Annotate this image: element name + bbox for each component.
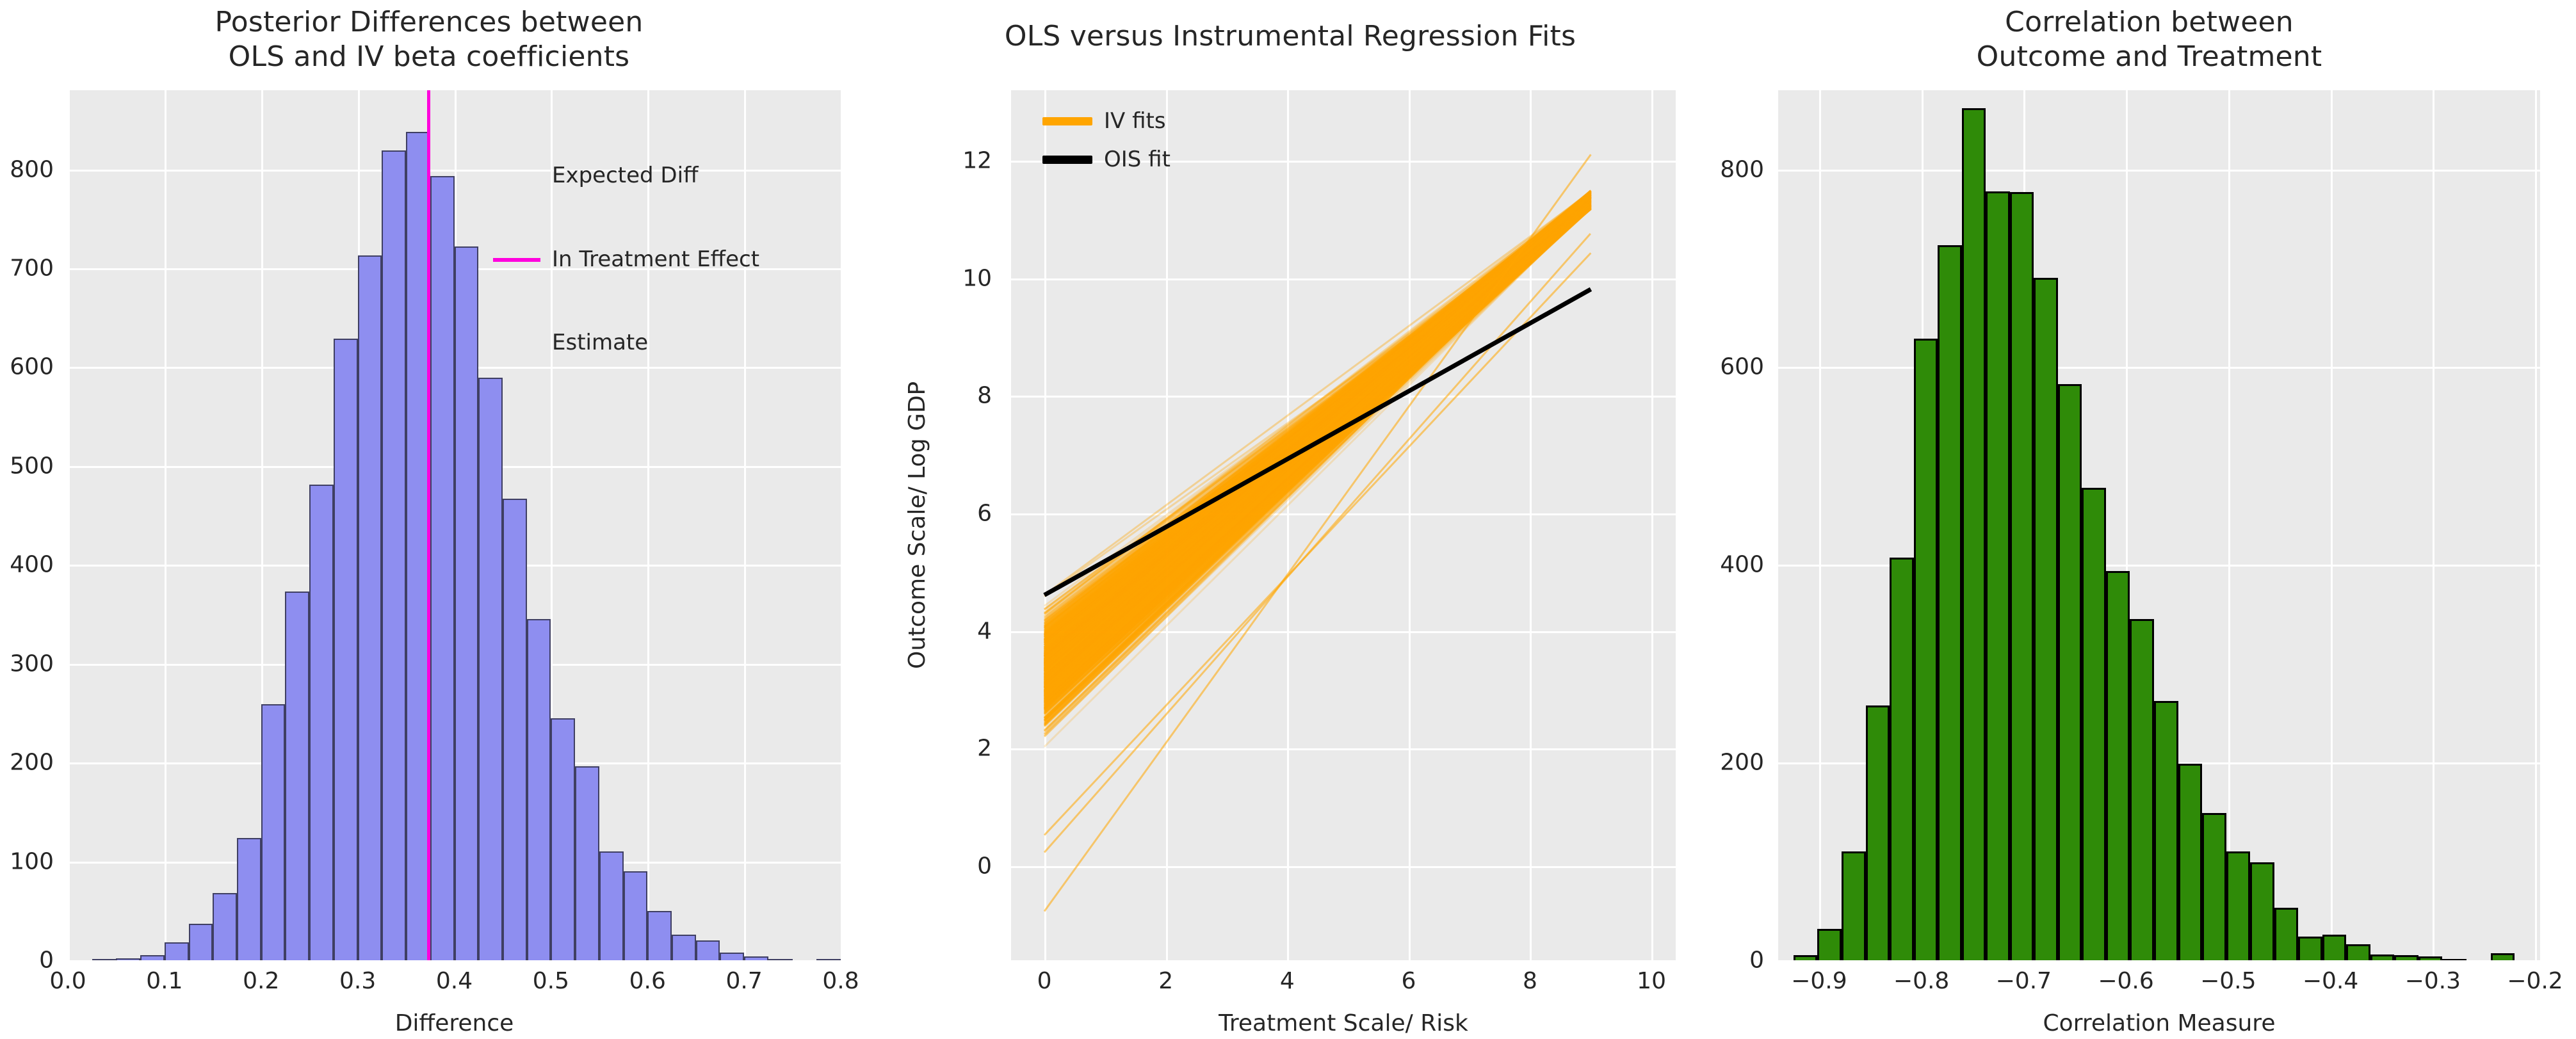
panel1-x-tick: 0.3 <box>339 968 376 994</box>
histogram-bar <box>816 959 841 960</box>
panel1-x-tick: 0.7 <box>725 968 762 994</box>
panel1-title-line1: Posterior Differences between <box>0 5 858 40</box>
histogram-bar <box>2370 954 2395 960</box>
iv-fit-line <box>1044 194 1591 623</box>
panel-ols-vs-iv-fits: OLS versus Instrumental Regression Fits … <box>858 0 1722 1039</box>
panel2-x-tick: 2 <box>1158 968 1173 994</box>
iv-fit-line <box>1044 200 1591 699</box>
gridline-vertical <box>2228 90 2230 960</box>
histogram-bar <box>503 499 527 960</box>
panel1-y-tick: 800 <box>10 156 54 182</box>
panel3-x-tick: −0.7 <box>1996 968 2052 994</box>
panel1-y-tick: 600 <box>10 354 54 380</box>
panel3-x-tick: −0.2 <box>2507 968 2563 994</box>
panel3-x-tick: −0.9 <box>1791 968 1847 994</box>
panel2-legend-iv-label: IV fits <box>1104 108 1166 136</box>
histogram-bar <box>2274 908 2299 960</box>
gridline-horizontal <box>1778 170 2540 172</box>
gridline-vertical <box>1287 90 1289 960</box>
gridline-vertical <box>68 90 70 960</box>
histogram-bar <box>213 893 237 960</box>
gridline-vertical <box>1651 90 1653 960</box>
gridline-horizontal <box>1011 278 1676 280</box>
panel-correlation-outcome-treatment: Correlation between Outcome and Treatmen… <box>1722 0 2576 1039</box>
panel2-x-tick: 10 <box>1637 968 1666 994</box>
panel1-x-axis-label: Difference <box>68 1010 841 1036</box>
panel1-y-tick: 200 <box>10 750 54 776</box>
panel3-x-axis-label: Correlation Measure <box>1778 1010 2540 1036</box>
gridline-vertical <box>165 90 166 960</box>
histogram-bar <box>334 339 358 960</box>
histogram-bar <box>2491 953 2515 960</box>
histogram-bar <box>237 838 261 961</box>
panel1-title-line2: OLS and IV beta coefficients <box>0 40 858 74</box>
panel1-y-tick: 700 <box>10 255 54 281</box>
histogram-bar <box>2106 571 2130 960</box>
histogram-bar <box>2298 937 2322 960</box>
histogram-bar <box>2154 701 2178 960</box>
panel2-y-tick: 2 <box>977 736 992 762</box>
histogram-bar <box>2442 959 2467 960</box>
panel1-x-tick: 0.6 <box>629 968 666 994</box>
expected-diff-legend-swatch <box>493 258 540 262</box>
panel2-y-tick: 10 <box>962 265 992 291</box>
histogram-bar <box>455 246 479 960</box>
histogram-bar <box>2418 956 2443 960</box>
panel1-legend-line3: Estimate <box>552 329 759 357</box>
iv-fit-line <box>1044 204 1591 747</box>
panel2-x-tick: 6 <box>1401 968 1416 994</box>
histogram-bar <box>696 940 720 960</box>
histogram-bar <box>140 955 165 960</box>
histogram-bar <box>92 959 117 960</box>
histogram-bar <box>1914 339 1938 960</box>
panel-posterior-differences: Posterior Differences between OLS and IV… <box>0 0 858 1039</box>
panel2-y-tick: 6 <box>977 501 992 527</box>
panel1-legend[interactable]: Expected Diff In Treatment Effect Estima… <box>493 106 759 413</box>
panel1-x-tick: 0.5 <box>533 968 569 994</box>
panel2-title-line1: OLS versus Instrumental Regression Fits <box>858 19 1722 54</box>
expected-diff-vline <box>427 90 430 960</box>
panel3-x-tick: −0.4 <box>2303 968 2358 994</box>
histogram-bar <box>2178 764 2203 960</box>
panel3-y-tick: 600 <box>1720 354 1764 380</box>
histogram-bar <box>2010 192 2034 960</box>
histogram-bar <box>382 150 406 960</box>
panel3-title-line2: Outcome and Treatment <box>1722 40 2576 74</box>
panel1-legend-line1: Expected Diff <box>552 162 759 190</box>
histogram-bar <box>2250 862 2274 960</box>
gridline-horizontal <box>1778 367 2540 369</box>
panel2-legend-ols-label: OIS fit <box>1104 146 1171 174</box>
histogram-bar <box>189 924 213 960</box>
histogram-bar <box>165 942 189 960</box>
gridline-vertical <box>1819 90 1821 960</box>
multi-panel-figure: Posterior Differences between OLS and IV… <box>0 0 2576 1039</box>
histogram-bar <box>2346 944 2370 960</box>
histogram-bar <box>2058 384 2082 960</box>
histogram-bar <box>2034 278 2058 960</box>
panel3-x-tick: −0.8 <box>1893 968 1949 994</box>
gridline-vertical <box>2433 90 2434 960</box>
panel2-y-tick: 4 <box>977 618 992 644</box>
gridline-horizontal <box>1011 866 1676 868</box>
histogram-bar <box>2130 619 2154 960</box>
panel3-x-tick: −0.6 <box>2098 968 2153 994</box>
panel1-legend-label: Expected Diff In Treatment Effect Estima… <box>552 106 759 413</box>
histogram-bar <box>1962 108 1986 960</box>
panel3-title-line1: Correlation between <box>1722 5 2576 40</box>
histogram-bar <box>430 176 455 960</box>
panel1-y-tick: 300 <box>10 650 54 677</box>
panel2-x-tick: 0 <box>1037 968 1052 994</box>
panel2-y-tick: 12 <box>962 148 992 174</box>
iv-fit-line <box>1044 191 1591 595</box>
panel1-legend-line2: In Treatment Effect <box>552 246 759 274</box>
panel3-y-tick: 400 <box>1720 552 1764 578</box>
gridline-vertical <box>1530 90 1532 960</box>
panel3-plot-area <box>1778 90 2540 960</box>
histogram-bar <box>2082 488 2106 960</box>
histogram-bar <box>2202 813 2226 960</box>
histogram-bar <box>527 619 551 960</box>
panel2-x-axis-label: Treatment Scale/ Risk <box>1011 1010 1676 1036</box>
panel1-y-tick: 100 <box>10 848 54 874</box>
panel1-title: Posterior Differences between OLS and IV… <box>0 5 858 74</box>
histogram-bar <box>261 704 286 960</box>
histogram-bar <box>1938 245 1962 960</box>
iv-fits-legend-swatch <box>1042 117 1092 125</box>
gridline-vertical <box>1044 90 1046 960</box>
panel3-y-tick: 200 <box>1720 750 1764 776</box>
histogram-bar <box>2322 935 2347 960</box>
panel2-y-tick: 8 <box>977 383 992 409</box>
panel2-x-tick: 8 <box>1523 968 1537 994</box>
histogram-bar <box>358 255 382 960</box>
histogram-bar <box>647 911 672 960</box>
histogram-bar <box>1890 558 1914 960</box>
histogram-bar <box>2226 851 2251 960</box>
panel1-x-tick: 0.8 <box>822 968 859 994</box>
histogram-bar <box>1794 955 1818 960</box>
panel1-x-tick: 0.4 <box>436 968 473 994</box>
panel1-x-tick: 0.1 <box>146 968 182 994</box>
gridline-vertical <box>2331 90 2333 960</box>
histogram-bar <box>551 718 575 960</box>
panel2-y-tick: 0 <box>977 853 992 880</box>
histogram-bar <box>116 958 140 960</box>
gridline-vertical <box>1409 90 1411 960</box>
panel2-plot-area <box>1011 90 1676 960</box>
panel3-y-tick: 800 <box>1720 156 1764 182</box>
ols-fit-line <box>1043 287 1592 597</box>
histogram-bar <box>744 956 768 960</box>
histogram-bar <box>478 378 503 960</box>
panel2-legend-iv[interactable]: IV fits <box>1042 108 1166 136</box>
histogram-bar <box>2394 955 2418 960</box>
panel2-title: OLS versus Instrumental Regression Fits <box>858 19 1722 54</box>
histogram-bar <box>1842 851 1866 960</box>
histogram-bar <box>672 935 696 960</box>
histogram-bar <box>720 953 744 960</box>
panel1-x-tick: 0.2 <box>243 968 279 994</box>
histogram-bar <box>624 871 648 960</box>
histogram-bar <box>575 766 599 960</box>
histogram-bar <box>768 959 793 960</box>
histogram-bar <box>1986 191 2010 960</box>
panel1-x-tick: 0.0 <box>49 968 86 994</box>
panel2-y-axis-label: Outcome Scale/ Log GDP <box>904 382 930 669</box>
histogram-bar <box>599 851 624 960</box>
histogram-bar <box>309 485 334 960</box>
gridline-horizontal <box>1011 748 1676 750</box>
ols-fit-legend-swatch <box>1042 156 1092 164</box>
histogram-bar <box>1817 929 1842 960</box>
panel3-x-tick: −0.5 <box>2200 968 2256 994</box>
panel3-x-tick: −0.3 <box>2405 968 2461 994</box>
histogram-bar <box>285 592 309 960</box>
gridline-vertical <box>2535 90 2537 960</box>
panel1-y-tick: 400 <box>10 552 54 578</box>
panel2-legend-ols[interactable]: OIS fit <box>1042 146 1171 174</box>
histogram-bar <box>1866 705 1890 960</box>
panel3-title: Correlation between Outcome and Treatmen… <box>1722 5 2576 74</box>
panel2-x-tick: 4 <box>1280 968 1295 994</box>
panel3-y-tick: 0 <box>1749 947 1764 974</box>
panel1-y-tick: 500 <box>10 453 54 479</box>
